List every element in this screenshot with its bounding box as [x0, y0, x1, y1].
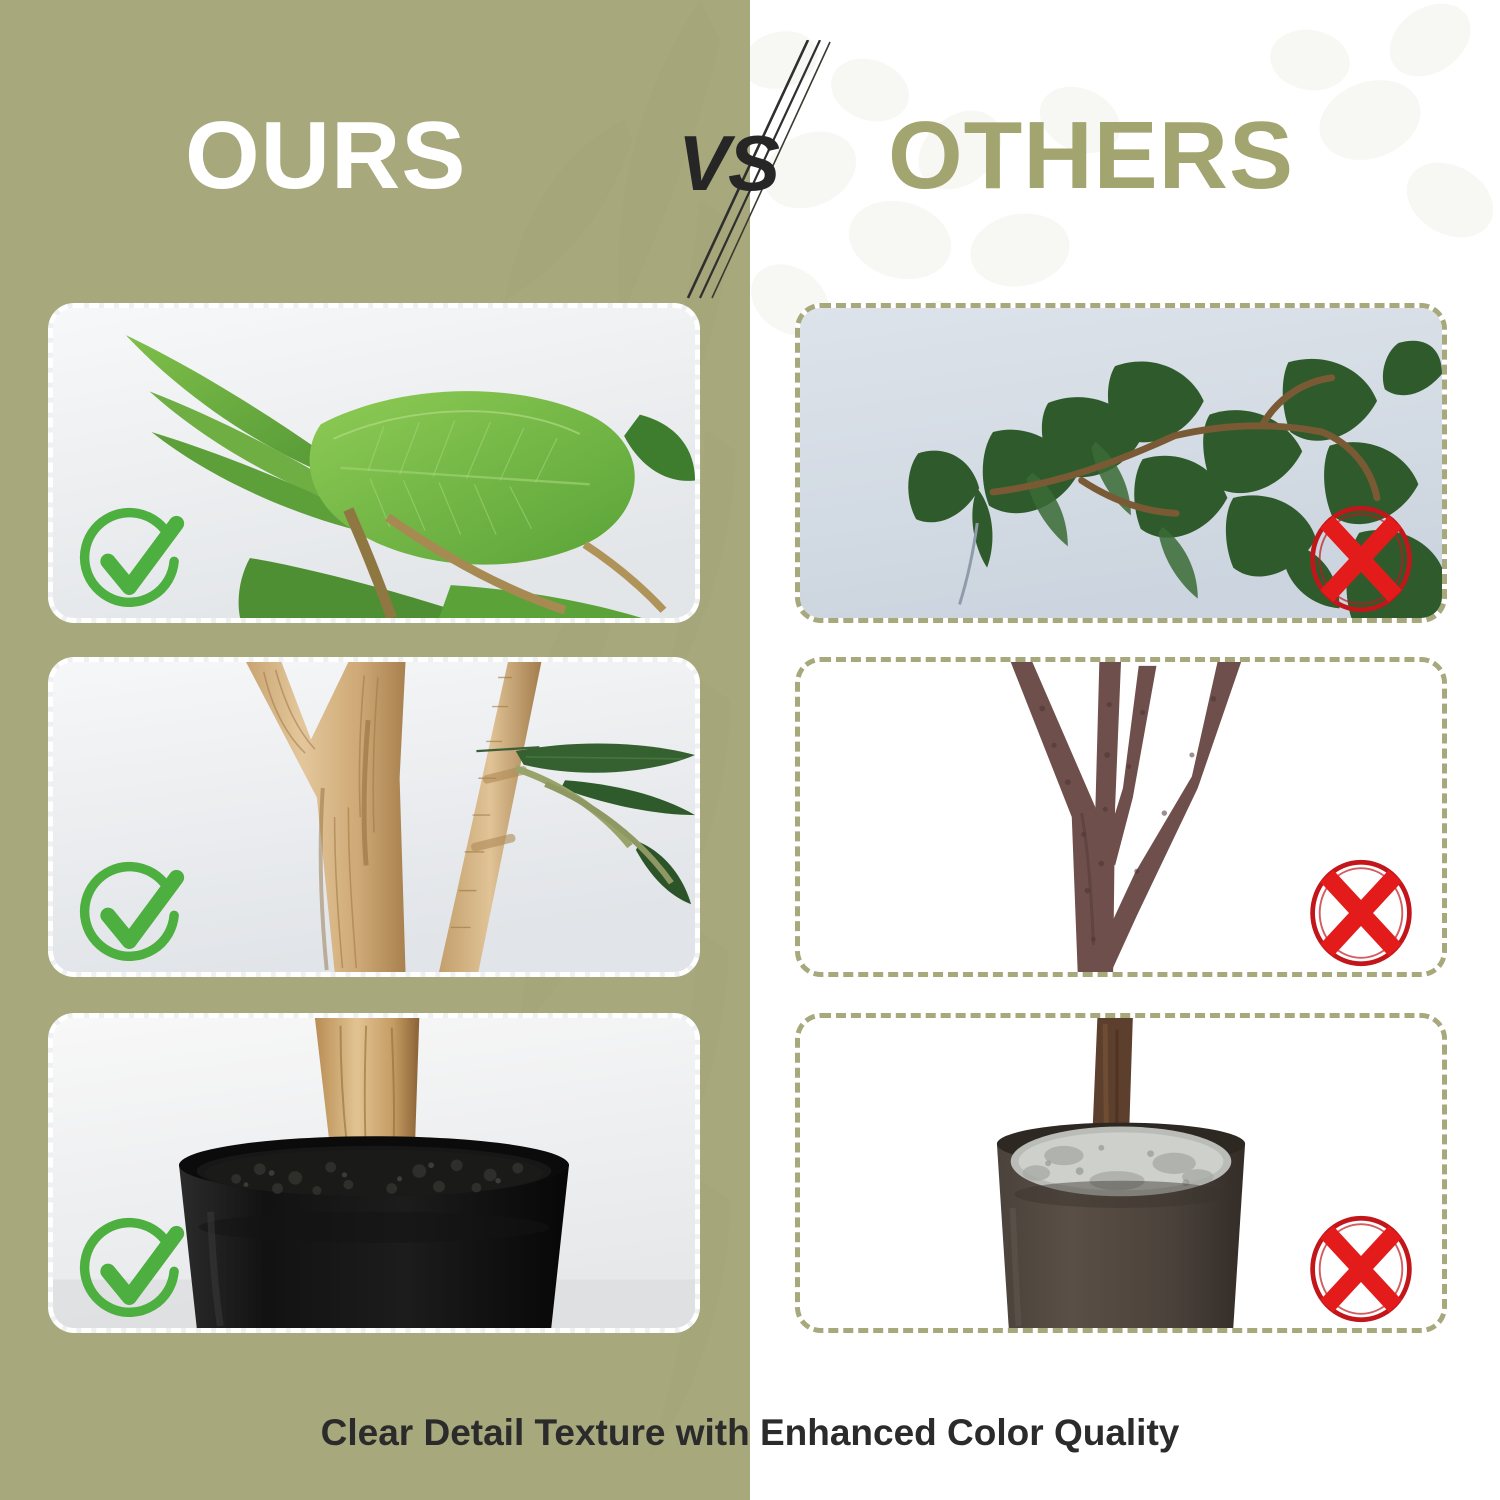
- card-others-pot[interactable]: [795, 1013, 1447, 1333]
- cross-circle-icon: [1302, 854, 1420, 972]
- card-ours-leaves[interactable]: [48, 303, 700, 623]
- comparison-infographic: OURS VS OTHERS: [0, 0, 1500, 1500]
- cross-circle-icon: [1302, 1210, 1420, 1328]
- check-circle-icon: [75, 500, 193, 618]
- vs-label: VS: [678, 124, 778, 202]
- page-title-ours: OURS: [185, 108, 466, 204]
- check-circle-icon: [75, 1210, 193, 1328]
- check-circle-icon: [75, 854, 193, 972]
- card-ours-trunk[interactable]: [48, 657, 700, 977]
- cross-circle-icon: [1302, 500, 1420, 618]
- card-others-leaves[interactable]: [795, 303, 1447, 623]
- card-others-trunk[interactable]: [795, 657, 1447, 977]
- card-ours-pot[interactable]: [48, 1013, 700, 1333]
- footer-caption: Clear Detail Texture with Enhanced Color…: [0, 1412, 1500, 1454]
- page-title-others: OTHERS: [888, 108, 1294, 204]
- header: OURS VS OTHERS: [0, 0, 1500, 290]
